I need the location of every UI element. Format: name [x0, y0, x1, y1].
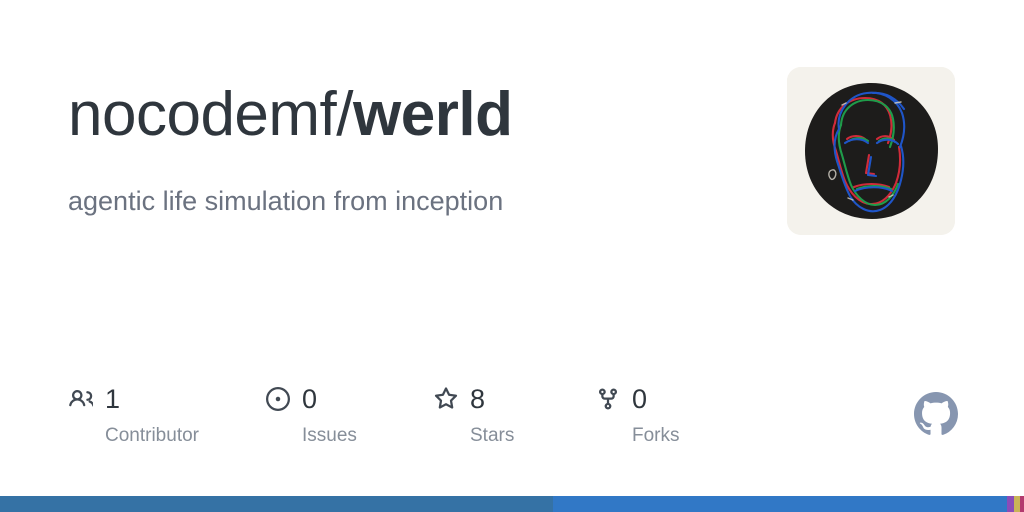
- repo-forked-icon: [595, 386, 621, 412]
- repo-owner[interactable]: nocodemf: [68, 80, 336, 149]
- repo-avatar: [787, 67, 955, 235]
- repo-name[interactable]: werld: [353, 80, 512, 149]
- stat-forks-value: 0: [632, 384, 647, 414]
- stat-stars[interactable]: 8 Stars: [433, 382, 565, 447]
- stat-forks[interactable]: 0 Forks: [595, 382, 715, 447]
- stat-issues[interactable]: 0 Issues: [265, 382, 403, 447]
- page-title: nocodemf/werld: [68, 78, 512, 152]
- stat-contributors[interactable]: 1 Contributor: [68, 382, 235, 447]
- stat-stars-label: Stars: [433, 425, 514, 447]
- people-icon: [68, 386, 94, 412]
- language-bar-segment-4: [1020, 496, 1024, 512]
- stat-issues-label: Issues: [265, 425, 357, 447]
- repo-separator: /: [336, 80, 353, 149]
- stat-forks-top: 0: [595, 382, 647, 416]
- repo-stats: 1 Contributor 0 Issues: [68, 382, 745, 447]
- star-icon: [433, 386, 459, 412]
- language-bar-segment-0: [0, 496, 553, 512]
- repo-social-card: nocodemf/werld agentic life simulation f…: [0, 0, 1024, 512]
- repo-description: agentic life simulation from inception: [68, 184, 503, 218]
- stat-forks-label: Forks: [595, 425, 680, 447]
- stat-contributors-label: Contributor: [68, 425, 199, 447]
- stat-issues-value: 0: [302, 384, 317, 414]
- stat-stars-top: 8: [433, 382, 485, 416]
- stat-stars-value: 8: [470, 384, 485, 414]
- language-bar-segment-1: [553, 496, 1007, 512]
- language-bar: [0, 496, 1024, 512]
- github-mark-icon: [914, 392, 958, 436]
- stat-contributors-value: 1: [105, 384, 120, 414]
- repo-avatar-rgb-face-sketch-icon: [787, 67, 955, 235]
- issue-opened-icon: [265, 386, 291, 412]
- language-bar-segment-2: [1007, 496, 1014, 512]
- stat-contributors-top: 1: [68, 382, 120, 416]
- stat-issues-top: 0: [265, 382, 317, 416]
